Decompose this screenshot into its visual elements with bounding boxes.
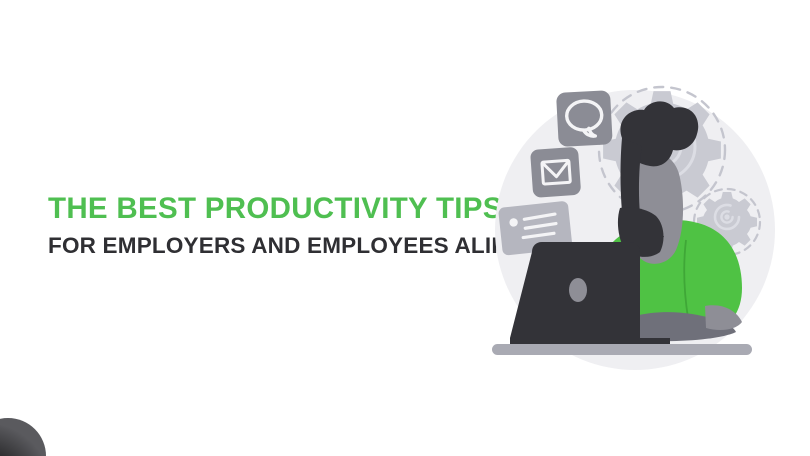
hero-illustration [470,60,800,390]
page-subtitle: FOR EMPLOYERS AND EMPLOYEES ALIKE [48,233,478,258]
email-card [530,147,581,198]
corner-decoration [0,412,48,456]
corner-dark-circle [0,418,46,456]
laptop-logo [569,278,587,302]
page-title: THE BEST PRODUCTIVITY TIPS [48,193,478,225]
laptop-base [510,338,670,344]
chat-bubble-card [556,90,613,147]
promo-banner: THE BEST PRODUCTIVITY TIPS FOR EMPLOYERS… [0,0,810,456]
headline-block: THE BEST PRODUCTIVITY TIPS FOR EMPLOYERS… [48,193,478,258]
desk-surface [492,344,752,355]
